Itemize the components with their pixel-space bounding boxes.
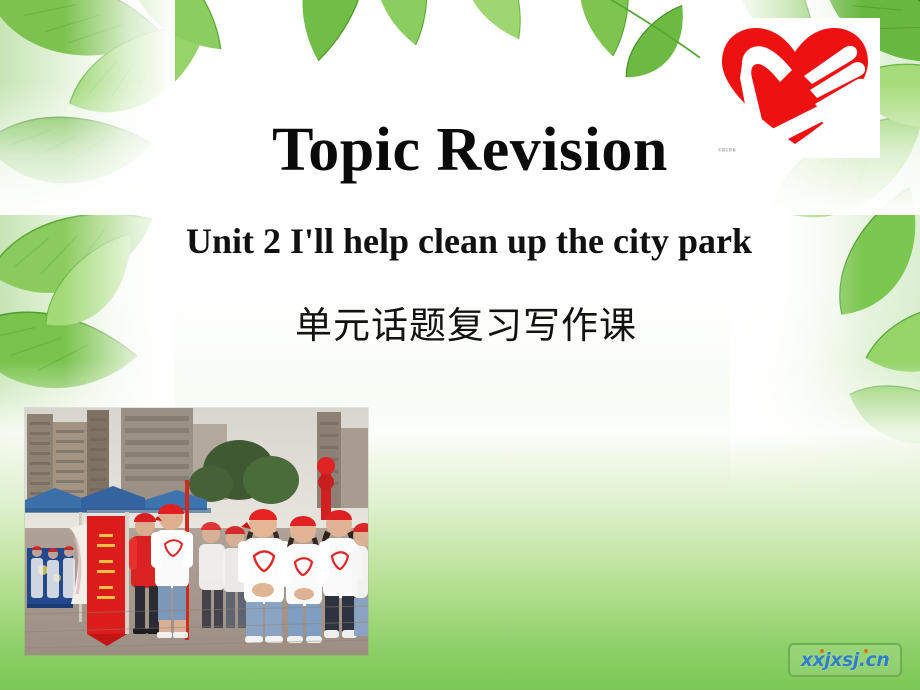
chinese-subtitle: 单元话题复习写作课 — [0, 305, 920, 348]
watermark-text: xxjxsj.cn — [801, 649, 890, 671]
unit-subtitle: Unit 2 I'll help clean up the city park — [0, 222, 920, 262]
watermark-dot-icon — [864, 649, 868, 653]
site-watermark: xxjxsj.cn — [788, 643, 902, 677]
presentation-slide: 中国志愿者 Topic Revision Unit 2 I'll help cl… — [0, 0, 920, 690]
page-title: Topic Revision — [0, 118, 920, 183]
watermark-dot-icon — [820, 649, 824, 653]
volunteers-photo — [25, 408, 368, 655]
